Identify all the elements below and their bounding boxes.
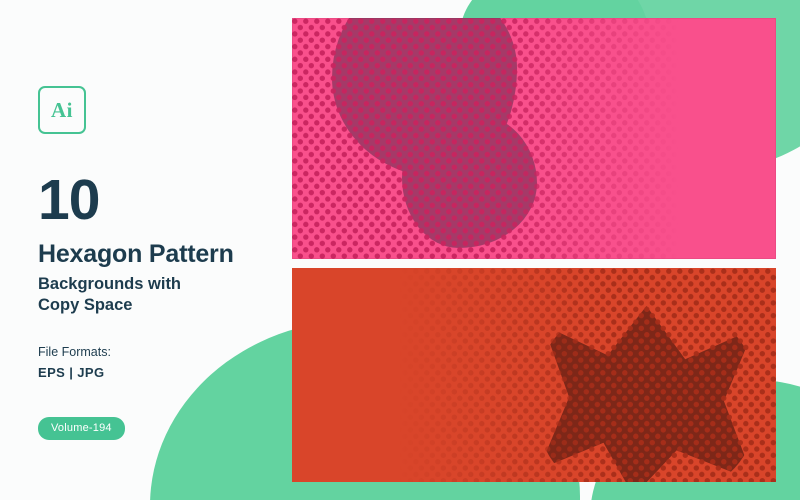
preview-pink-hexagon-banner <box>292 18 776 259</box>
orange-halftone-dots <box>292 268 776 482</box>
volume-badge: Volume-194 <box>38 417 125 440</box>
page-title: Hexagon Pattern <box>38 240 288 270</box>
pink-halftone-dots <box>292 18 776 259</box>
ai-badge-label: Ai <box>51 98 73 123</box>
info-panel: Ai 10 Hexagon Pattern Backgrounds with C… <box>38 86 288 440</box>
item-count: 10 <box>38 172 288 229</box>
page-subtitle-line-2: Copy Space <box>38 295 288 316</box>
file-formats-label: File Formats: <box>38 345 288 359</box>
page-subtitle-line-1: Backgrounds with <box>38 274 288 295</box>
adobe-illustrator-icon: Ai <box>38 86 86 134</box>
file-formats-value: EPS | JPG <box>38 365 288 380</box>
preview-orange-hexagon-banner <box>292 268 776 482</box>
preview-canvas: Ai 10 Hexagon Pattern Backgrounds with C… <box>0 0 800 500</box>
